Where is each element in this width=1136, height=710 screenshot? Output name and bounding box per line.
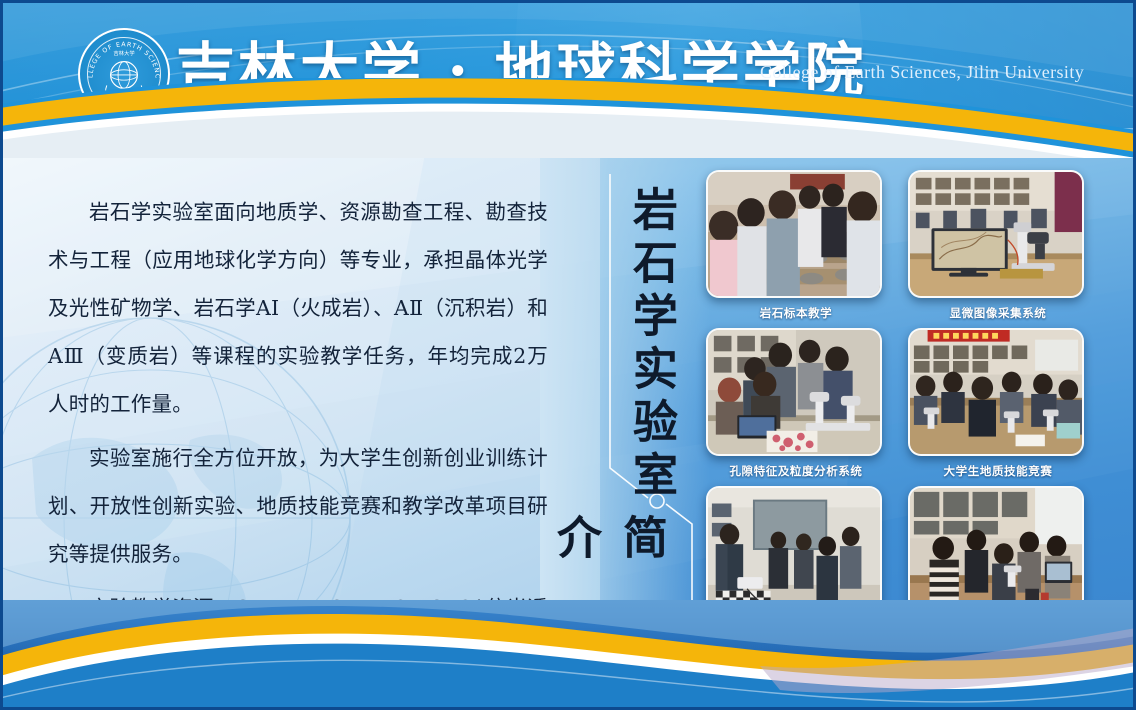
photo-rock-specimen-teaching[interactable] [706, 170, 882, 298]
vertical-title-block: 岩石学实验室 简介 [596, 168, 706, 618]
gallery-caption: 显微图像采集系统 [908, 305, 1088, 321]
gallery-item[interactable]: 显微图像采集系统 [908, 170, 1088, 321]
gallery-caption: 孔隙特征及粒度分析系统 [706, 463, 886, 479]
poster-root: COLLEGE OF EARTH SCIENCES 地球科学学院 吉林大学 吉林… [0, 0, 1136, 710]
photo-leadership-visit[interactable] [706, 486, 882, 614]
poster-body: 岩石学实验室面向地质学、资源勘查工程、勘查技术与工程（应用地球化学方向）等专业，… [0, 128, 1136, 648]
gallery-item[interactable]: 岩石标本教学 [706, 170, 886, 321]
gallery-item[interactable]: 大学生地质技能竞赛 [908, 328, 1088, 479]
gallery-item[interactable]: 孔隙特征及粒度分析系统 [706, 328, 886, 479]
photo-gallery: 岩石标本教学 [706, 170, 1106, 648]
article-paragraph-1: 岩石学实验室面向地质学、资源勘查工程、勘查技术与工程（应用地球化学方向）等专业，… [48, 188, 548, 428]
photo-geology-skills-competition[interactable] [908, 328, 1084, 456]
header-yellow-wave-divider [0, 78, 1136, 158]
gallery-caption: 岩石标本教学 [706, 305, 886, 321]
photo-microscopic-imaging-system[interactable] [908, 170, 1084, 298]
svg-text:吉林大学: 吉林大学 [113, 49, 135, 57]
article-body: 岩石学实验室面向地质学、资源勘查工程、勘查技术与工程（应用地球化学方向）等专业，… [48, 188, 548, 648]
photo-pore-grainsize-analysis-system[interactable] [706, 328, 882, 456]
poster-footer [0, 600, 1136, 710]
footer-wave-decoration [0, 600, 1136, 710]
vertical-title-main: 岩石学实验室 [618, 186, 684, 504]
gallery-caption: 大学生地质技能竞赛 [908, 463, 1088, 479]
article-paragraph-2: 实验室施行全方位开放，为大学生创新创业训练计划、开放性创新实验、地质技能竞赛和教… [48, 434, 548, 578]
photo-international-students-visit[interactable] [908, 486, 1084, 614]
